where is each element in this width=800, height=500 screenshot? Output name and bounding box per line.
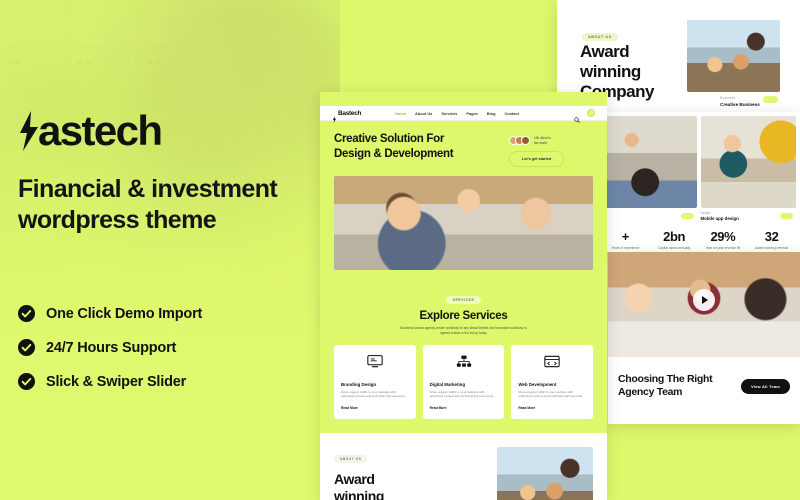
office-video-thumbnail — [608, 252, 800, 357]
title-line-1: Choosing The Right — [618, 373, 712, 386]
list-item: One Click Demo Import — [18, 305, 318, 322]
brand-logo: astech — [18, 110, 328, 152]
title-line-2: Agency Team — [618, 386, 712, 399]
network-hierarchy-icon — [456, 355, 472, 368]
office-photo-1 — [601, 116, 697, 208]
arrow-pill-button[interactable] — [763, 96, 778, 103]
service-card[interactable]: Branding Design Drive organic traffic to… — [334, 345, 416, 420]
nav-item-about-us[interactable]: About Us — [415, 111, 432, 116]
play-button-icon[interactable] — [693, 289, 715, 311]
title-line-2: winning — [580, 62, 670, 82]
client-badge: 10k client in the world — [509, 136, 593, 145]
get-started-button[interactable]: Let's get started — [509, 151, 564, 167]
about-title-line-2: winning — [334, 488, 454, 500]
agency-team-header: Choosing The Right Agency Team View All … — [608, 357, 800, 399]
hero-title-line-1: Creative Solution For — [334, 132, 453, 147]
promo-headline-line2: wordpress theme — [18, 205, 328, 236]
stat-label: Capital raised annually — [650, 246, 699, 250]
service-title: Branding Design — [341, 382, 409, 387]
promo-banner: astech Financial & investment wordpress … — [0, 0, 800, 500]
client-count-text: 10k client in the world — [534, 136, 551, 145]
service-title: Digital Marketing — [430, 382, 498, 387]
photo-caption — [601, 211, 697, 223]
hero-title-line-2: Design & Development — [334, 147, 453, 162]
service-description: Drive organic traffic to your website wi… — [341, 390, 409, 400]
list-item: 24/7 Hours Support — [18, 339, 318, 356]
stat-item: 32 Award winning referrals — [747, 229, 796, 250]
stat-number: 32 — [747, 229, 796, 244]
read-more-link[interactable]: Read More — [430, 406, 498, 410]
navbar-logo[interactable]: Bastech — [332, 110, 361, 117]
search-icon[interactable] — [574, 110, 580, 116]
read-more-link[interactable]: Read More — [518, 406, 586, 410]
read-more-link[interactable]: Read More — [341, 406, 409, 410]
service-description: Drive organic traffic to your website wi… — [430, 390, 498, 400]
stat-item: 29% Year on year revenue lift — [699, 229, 748, 250]
check-circle-icon — [18, 373, 35, 390]
stat-item: 2bn Capital raised annually — [650, 229, 699, 250]
nav-item-blog[interactable]: Blog — [487, 111, 496, 116]
feature-list: One Click Demo Import 24/7 Hours Support… — [18, 305, 318, 390]
hero-title: Creative Solution For Design & Developme… — [334, 132, 453, 161]
navbar-actions — [574, 109, 595, 117]
arrow-pill-button[interactable] — [681, 213, 694, 219]
section-badge: About Us — [334, 455, 367, 463]
service-card[interactable]: Web Development Drive organic traffic to… — [511, 345, 593, 420]
avatar-group — [509, 136, 530, 145]
view-all-team-button[interactable]: View All Team — [741, 379, 790, 394]
check-circle-icon — [18, 339, 35, 356]
photo-caption: Design Mobile app design — [701, 211, 797, 223]
title-line-1: Award — [580, 42, 670, 62]
promo-headline-line1: Financial & investment — [18, 174, 328, 205]
navbar-menu: Home About Us Services Pages Blog Contac… — [395, 111, 519, 116]
hero-section: Creative Solution For Design & Developme… — [320, 121, 607, 176]
section-title: Explore Services — [320, 310, 607, 322]
service-card-row: Branding Design Drive organic traffic to… — [320, 345, 607, 420]
brand-name: astech — [38, 110, 161, 152]
mockup-top-strip — [320, 92, 607, 106]
mockup-agency-team: Choosing The Right Agency Team View All … — [608, 252, 800, 424]
code-window-icon — [544, 355, 560, 368]
stat-item: + Years of experience — [601, 229, 650, 250]
hero-side: 10k client in the world Let's get starte… — [509, 132, 593, 167]
avatar — [521, 136, 530, 145]
office-photo-2 — [701, 116, 797, 208]
mockup-homepage: Bastech Home About Us Services Pages Blo… — [320, 92, 607, 500]
services-section: Services Explore Services Business branc… — [320, 280, 607, 433]
about-text: About Us Award winning Company — [334, 447, 454, 500]
navbar-brand: Bastech — [338, 110, 361, 117]
stat-number: 2bn — [650, 229, 699, 244]
list-item: Slick & Swiper Slider — [18, 373, 318, 390]
client-text-line-1: 10k client in — [534, 136, 551, 140]
stat-label: Year on year revenue lift — [699, 246, 748, 250]
about-section: About Us Award winning Company — [320, 433, 607, 500]
hero-image-wrap — [320, 176, 607, 280]
user-avatar-icon[interactable] — [587, 109, 595, 117]
feature-label: Slick & Swiper Slider — [46, 374, 186, 390]
section-subtitle: Business branch agency create creativity… — [398, 326, 530, 336]
lightning-bolt-icon — [18, 111, 40, 151]
service-title: Web Development — [518, 382, 586, 387]
stat-number: 29% — [699, 229, 748, 244]
about-title-line-1: Award — [334, 471, 454, 488]
site-navbar: Bastech Home About Us Services Pages Blo… — [320, 106, 607, 121]
background-green-overlay — [0, 0, 340, 500]
about-photo — [497, 447, 593, 500]
monitor-design-icon — [367, 355, 383, 368]
nav-item-services[interactable]: Services — [441, 111, 457, 116]
section-title: Choosing The Right Agency Team — [618, 373, 712, 399]
stat-number: + — [601, 229, 650, 244]
service-description: Drive organic traffic to your website wi… — [518, 390, 586, 400]
caption-row: Design Mobile app design — [597, 208, 800, 223]
nav-item-pages[interactable]: Pages — [466, 111, 477, 116]
page-title: Financial & investment wordpress theme — [18, 174, 328, 235]
team-photo — [687, 20, 780, 92]
stats-row: + Years of experience 2bn Capital raised… — [597, 223, 800, 250]
promo-content: astech Financial & investment wordpress … — [18, 110, 328, 235]
hero-image — [334, 176, 593, 270]
arrow-pill-button[interactable] — [780, 213, 793, 219]
nav-item-home[interactable]: Home — [395, 111, 406, 116]
lightning-bolt-icon — [332, 110, 337, 117]
feature-label: One Click Demo Import — [46, 306, 202, 322]
section-badge: About Us — [582, 33, 618, 41]
stat-label: Award winning referrals — [747, 246, 796, 250]
section-badge: Services — [446, 296, 482, 304]
service-card[interactable]: Digital Marketing Drive organic traffic … — [423, 345, 505, 420]
photo-grid — [597, 112, 800, 208]
mockup-stats: Design Mobile app design + Years of expe… — [597, 112, 800, 252]
stat-label: Years of experience — [601, 246, 650, 250]
feature-label: 24/7 Hours Support — [46, 340, 176, 356]
check-circle-icon — [18, 305, 35, 322]
client-text-line-2: the world — [534, 141, 547, 145]
about-title: Award winning Company — [334, 471, 454, 500]
nav-item-contact[interactable]: Contact — [504, 111, 518, 116]
